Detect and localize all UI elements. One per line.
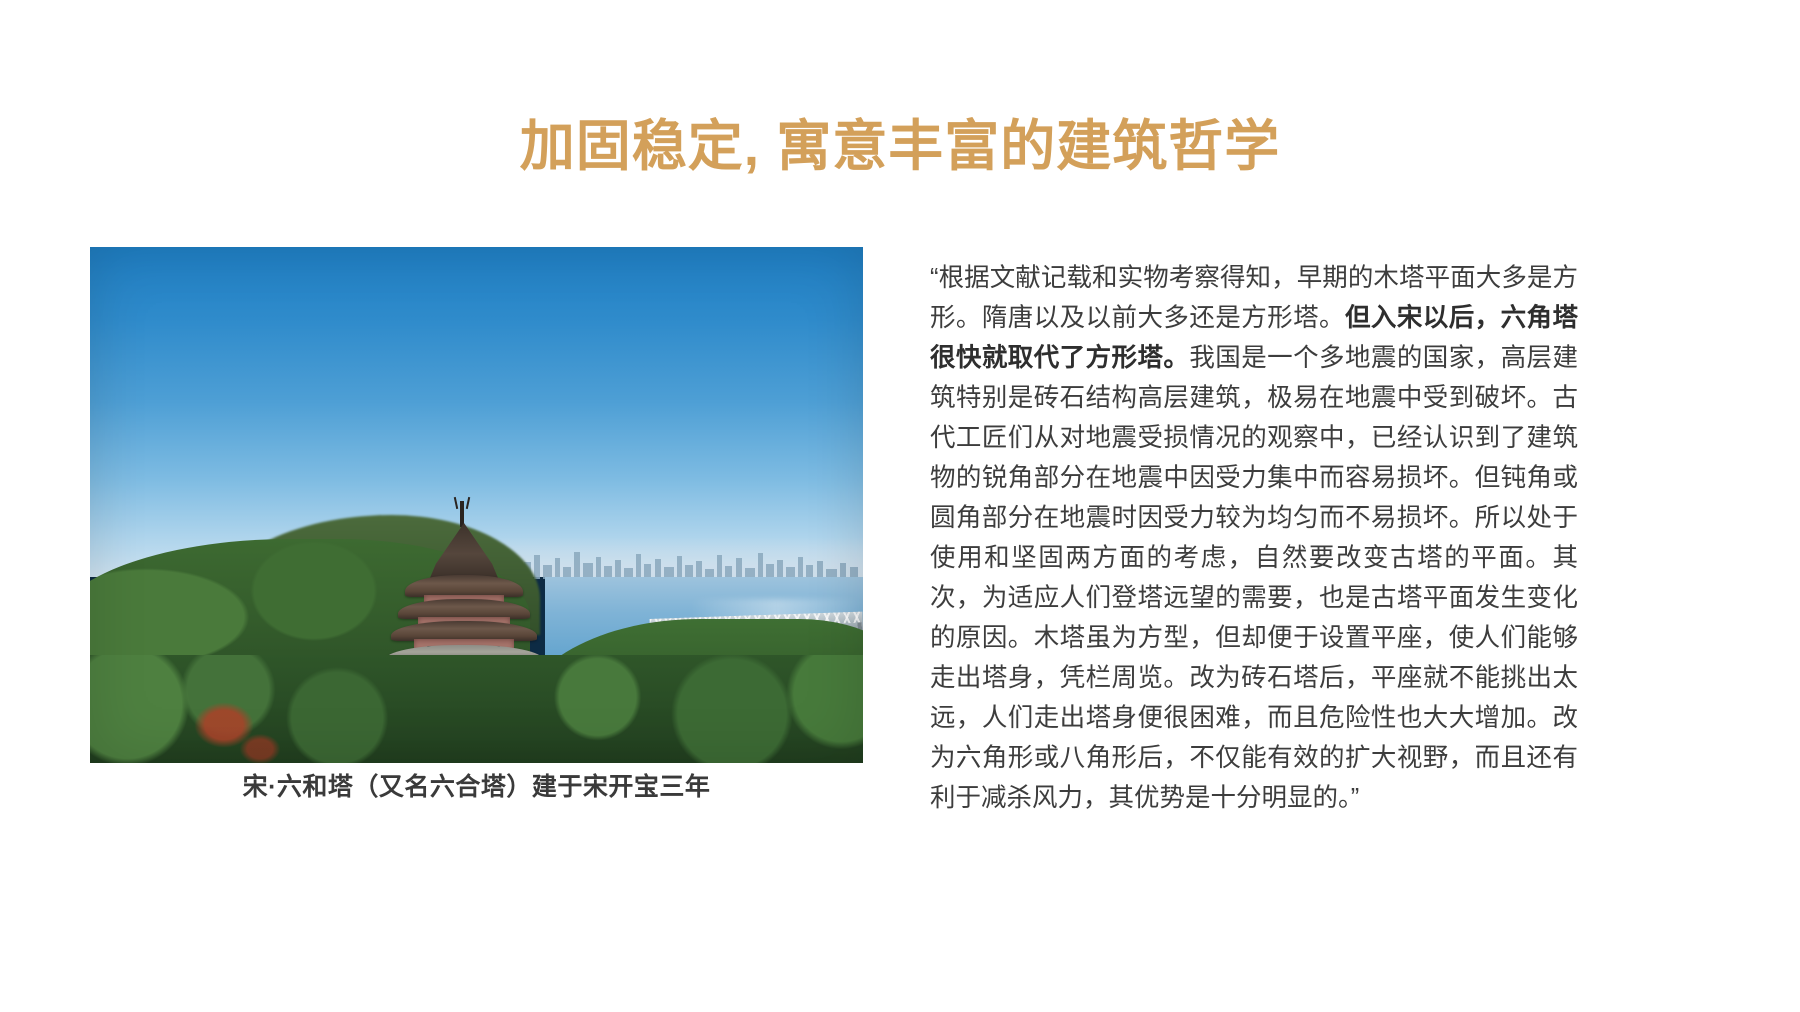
body-paragraph: “根据文献记载和实物考察得知，早期的木塔平面大多是方形。隋唐以及以前大多还是方形…: [930, 258, 1578, 818]
page-title-container: 加固稳定, 寓意丰富的建筑哲学: [0, 78, 1800, 214]
photo-canvas: [90, 247, 863, 763]
autumn-foliage: [240, 734, 280, 763]
body-segment-3: 我国是一个多地震的国家，高层建筑特别是砖石结构高层建筑，极易在地震中受到破坏。古…: [930, 344, 1578, 812]
figure-caption: 宋·六和塔（又名六合塔）建于宋开宝三年: [90, 770, 863, 804]
pagoda-finial: [460, 501, 464, 527]
pagoda-photo: [90, 247, 863, 763]
page-title: 加固稳定, 寓意丰富的建筑哲学: [520, 115, 1281, 177]
slide-root: 加固稳定, 寓意丰富的建筑哲学: [0, 0, 1800, 1012]
body-text: “根据文献记载和实物考察得知，早期的木塔平面大多是方形。隋唐以及以前大多还是方形…: [930, 258, 1578, 818]
